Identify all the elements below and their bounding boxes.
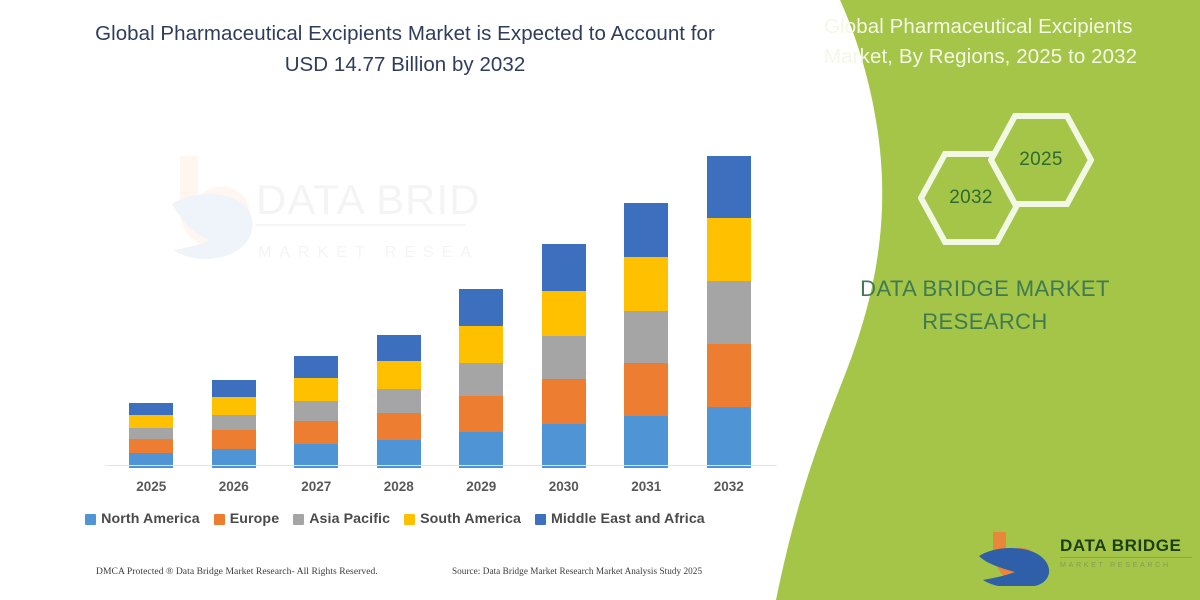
infographic-canvas: Global Pharmaceutical Excipients Market … [0,0,1200,600]
bar-column [542,244,586,468]
bar-segment [624,363,668,416]
bar-segment [624,311,668,363]
bar-segment [294,356,338,378]
bar-column [624,203,668,468]
bar-segment [212,415,256,430]
legend-swatch [85,514,96,525]
legend-item: Europe [214,511,279,527]
bar-segment [542,336,586,379]
bar-segment [294,401,338,421]
bar-column [707,156,751,468]
legend-item: North America [85,511,200,527]
bar-segment [624,416,668,468]
legend-swatch [293,514,304,525]
bar-segment [459,432,503,468]
footer-source: Source: Data Bridge Market Research Mark… [452,566,702,576]
bar-segment [542,244,586,291]
bar-segment [707,407,751,468]
bar-segment [459,326,503,363]
hexagon-2025-label: 2025 [988,112,1094,208]
x-axis-tick-label: 2025 [116,479,186,494]
bar-segment [707,281,751,344]
x-axis-tick-label: 2032 [694,479,764,494]
legend-item: South America [404,511,521,527]
bar-segment [377,440,421,468]
logo-title: DATA BRIDGE [1060,536,1192,558]
panel-heading: Global Pharmaceutical Excipients Market,… [824,12,1174,71]
bar-segment [129,428,173,439]
bar-segment [377,335,421,361]
logo-subtitle: MARKET RESEARCH [1060,560,1192,569]
hexagon-badge-2025: 2025 [988,112,1094,208]
bar-segment [459,289,503,326]
chart-legend: North AmericaEuropeAsia PacificSouth Ame… [0,511,790,527]
bar-segment [212,397,256,415]
legend-item: Middle East and Africa [535,511,705,527]
legend-swatch [535,514,546,525]
brand-line-2: RESEARCH [800,305,1170,338]
bar-segment [377,389,421,413]
data-bridge-logo: DATA BRIDGE MARKET RESEARCH [975,530,1190,588]
bar-segment [459,363,503,396]
bar-column [459,289,503,468]
bar-segment [707,344,751,407]
bar-segment [377,413,421,440]
bar-segment [542,424,586,468]
legend-label: Europe [230,511,279,527]
legend-swatch [404,514,415,525]
x-axis-tick-label: 2030 [529,479,599,494]
data-bridge-b-logo-icon [975,530,1061,586]
x-axis-tick-label: 2027 [281,479,351,494]
bar-segment [542,379,586,424]
brand-line-1: DATA BRIDGE MARKET [800,272,1170,305]
footer-copyright: DMCA Protected ® Data Bridge Market Rese… [96,566,378,577]
legend-item: Asia Pacific [293,511,390,527]
bar-segment [707,218,751,281]
x-axis-tick-label: 2031 [611,479,681,494]
legend-swatch [214,514,225,525]
bar-segment [624,257,668,311]
x-axis-tick-label: 2028 [364,479,434,494]
bar-segment [212,430,256,449]
bar-segment [129,403,173,415]
bar-column [294,356,338,468]
bar-segment [294,421,338,444]
bar-column [129,403,173,468]
bar-segment [294,378,338,401]
bar-segment [707,156,751,218]
x-axis-tick-label: 2029 [446,479,516,494]
bar-column [212,380,256,468]
plot-area [110,120,770,468]
x-axis-line [105,465,777,466]
bar-segment [129,439,173,453]
bar-segment [624,203,668,257]
footer: DMCA Protected ® Data Bridge Market Rese… [0,566,790,588]
legend-label: North America [101,511,200,527]
chart-panel: Global Pharmaceutical Excipients Market … [0,0,800,600]
bar-column [377,335,421,468]
bar-segment [212,380,256,397]
legend-label: Middle East and Africa [551,511,705,527]
bar-segment [377,361,421,389]
brand-name: DATA BRIDGE MARKET RESEARCH [800,272,1170,338]
bar-segment [459,396,503,432]
legend-label: Asia Pacific [309,511,390,527]
x-axis-labels: 20252026202720282029203020312032 [110,475,770,501]
bar-segment [129,415,173,428]
brand-panel: Global Pharmaceutical Excipients Market,… [770,0,1200,600]
bar-segment [542,291,586,336]
x-axis-tick-label: 2026 [199,479,269,494]
legend-label: South America [420,511,521,527]
page-title: Global Pharmaceutical Excipients Market … [95,18,715,80]
